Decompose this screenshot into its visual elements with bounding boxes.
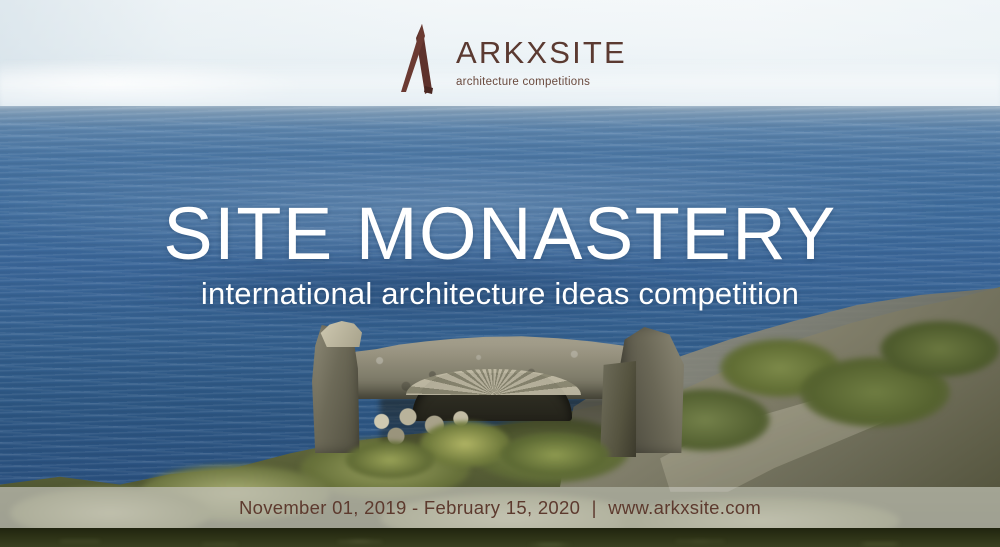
- footer-date-dash: -: [412, 497, 418, 518]
- scrub-bush: [880, 321, 1000, 377]
- monastery-ruin: [300, 325, 700, 475]
- footer-lower-vegetation-texture: [0, 528, 1000, 547]
- footer-website-link[interactable]: www.arkxsite.com: [608, 497, 761, 518]
- headline-block: SITE MONASTERY international architectur…: [0, 196, 1000, 309]
- ruin-interior-bush: [500, 433, 610, 477]
- logo-tagline: architecture competitions: [456, 77, 627, 89]
- ruin-right-pillar: [600, 361, 636, 457]
- logo-text-block: ARKXSITE architecture competitions: [456, 22, 627, 89]
- arkxsite-a-logo-mark: [392, 22, 446, 94]
- arkxsite-logo[interactable]: ARKXSITE architecture competitions: [392, 22, 622, 96]
- competition-subtitle: international architecture ideas competi…: [0, 278, 1000, 309]
- poster-canvas: ARKXSITE architecture competitions SITE …: [0, 0, 1000, 547]
- ruin-interior-bush: [345, 441, 435, 479]
- footer-info-band: November 01, 2019 - February 15, 2020 | …: [0, 487, 1000, 528]
- competition-title: SITE MONASTERY: [0, 196, 1000, 271]
- footer-end-date: February 15, 2020: [424, 497, 580, 518]
- logo-wordmark: ARKXSITE: [456, 37, 627, 68]
- footer-info-line: November 01, 2019 - February 15, 2020 | …: [239, 497, 761, 519]
- footer-start-date: November 01, 2019: [239, 497, 407, 518]
- footer-separator: |: [586, 497, 603, 518]
